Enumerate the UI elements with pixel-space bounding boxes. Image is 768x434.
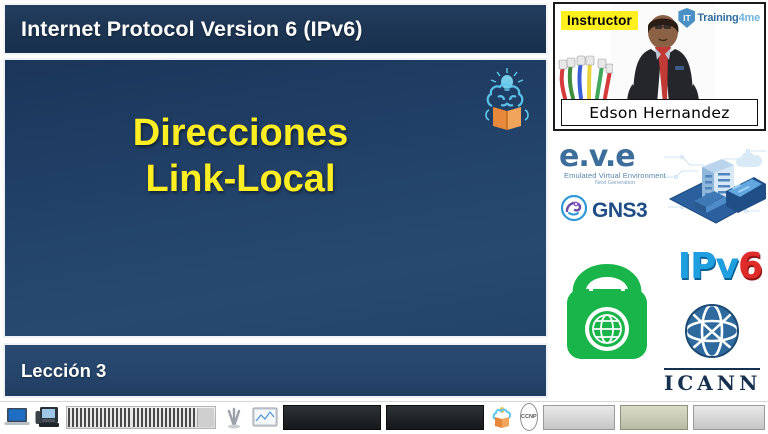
gns3-wordmark: GNS3 xyxy=(592,199,647,223)
eve-subtitle: Emulated Virtual Environment xyxy=(559,171,671,180)
shield-icon: IT xyxy=(678,8,695,28)
gns3-chameleon-icon xyxy=(561,195,587,226)
ccnp-badge-label: CCNP xyxy=(521,414,537,420)
firewall-appliance-3 xyxy=(693,405,765,430)
ccnp-certification-badge: CCNP xyxy=(520,403,538,431)
switch-port-block xyxy=(165,408,196,427)
slide-header-title: Internet Protocol Version 6 (IPv6) xyxy=(5,17,363,42)
icann-logo: ICANN xyxy=(664,303,760,395)
slide-main-title-line1: Direcciones xyxy=(133,112,348,154)
icann-wordmark: ICANN xyxy=(664,368,760,395)
it-training4me-logo: IT Training4me xyxy=(678,8,760,28)
presentation-slide: Internet Protocol Version 6 (IPv6) xyxy=(0,0,551,401)
firewall-appliance-2 xyxy=(620,405,688,430)
right-rail: Instructor IT Training4me xyxy=(551,0,768,401)
instructor-name: Edson Hernandez xyxy=(589,104,729,122)
isometric-network-illustration xyxy=(662,137,766,237)
firewall-appliance xyxy=(543,405,615,430)
gns3-logo: GNS3 xyxy=(561,195,647,226)
instructor-card: Instructor IT Training4me xyxy=(553,2,766,131)
device-strip: CCNP xyxy=(0,401,768,432)
ipv6-word-accent: 6 xyxy=(738,246,762,287)
cisco-router-device-2 xyxy=(386,405,484,430)
slide-canvas: Internet Protocol Version 6 (IPv6) xyxy=(0,0,768,432)
instructor-badge: Instructor xyxy=(561,11,638,30)
brand-word-accent: 4me xyxy=(739,12,760,24)
ipv6-icann-card: IPv6 xyxy=(553,239,766,399)
eve-subtitle-2: Next Generation xyxy=(559,180,671,186)
green-padlock-globe-icon xyxy=(557,241,657,361)
brain-book-icon xyxy=(489,406,515,429)
eve-wordmark: e.v.e xyxy=(559,143,671,170)
switch-port-block xyxy=(100,408,131,427)
slide-main-title-line2: Link-Local xyxy=(5,156,476,202)
switch-uplink-module xyxy=(197,408,214,427)
cisco-router-device xyxy=(283,405,381,430)
lesson-label: Lección 3 xyxy=(5,360,106,382)
access-switch-device xyxy=(66,406,216,429)
eve-gns3-card: e.v.e Emulated Virtual Environment Next … xyxy=(553,133,766,239)
switch-port-block xyxy=(68,408,99,427)
ipv6-word-main: IPv xyxy=(678,246,738,287)
ipv6-wordmark: IPv6 xyxy=(678,249,762,285)
wireless-antenna-icon xyxy=(221,406,247,429)
brand-word: Training xyxy=(697,12,738,24)
instructor-nameplate: Edson Hernandez xyxy=(561,99,758,126)
ip-phone-device-icon xyxy=(35,406,61,429)
slide-footer-bar: Lección 3 xyxy=(3,343,548,398)
it-shield-label: IT xyxy=(683,14,691,23)
wireframe-globe-icon xyxy=(676,352,748,369)
ethernet-cables-icon xyxy=(557,54,613,100)
slide-body-panel: Direcciones Link-Local xyxy=(3,58,548,338)
slide-main-title: Direcciones Link-Local xyxy=(5,110,546,203)
tablet-device-icon xyxy=(252,406,278,429)
slide-header-bar: Internet Protocol Version 6 (IPv6) xyxy=(3,3,548,55)
laptop-device-icon xyxy=(4,406,30,429)
brand-wordmark: Training4me xyxy=(697,12,760,24)
eve-ng-logo: e.v.e Emulated Virtual Environment Next … xyxy=(559,143,671,186)
switch-port-block xyxy=(133,408,164,427)
